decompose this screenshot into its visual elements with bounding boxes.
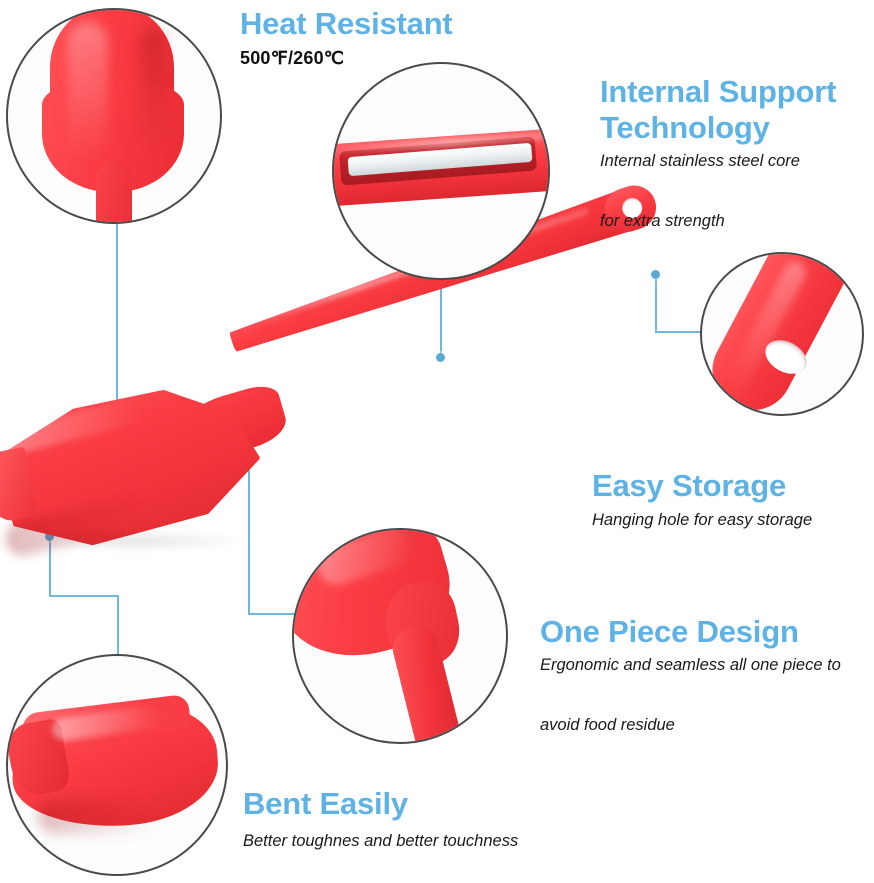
connector-line-bent-easily-v2 bbox=[117, 595, 119, 657]
feature-title-internal-support: Internal Support Technology bbox=[600, 74, 874, 146]
feature-subtitle-bent-easily: Better toughnes and better touchness bbox=[243, 826, 623, 856]
head-closeup-stem bbox=[96, 160, 132, 224]
feature-subtitle-one-piece: Ergonomic and seamless all one piece to … bbox=[540, 650, 874, 740]
feature-title-heat-resistant: Heat Resistant bbox=[240, 6, 540, 42]
connector-line-one-piece-horizontal bbox=[248, 613, 298, 615]
feature-temperature-heat-resistant: 500℉/260℃ bbox=[240, 48, 500, 69]
feature-title-easy-storage: Easy Storage bbox=[592, 468, 872, 504]
connector-line-bent-easily-h bbox=[49, 595, 119, 597]
feature-title-bent-easily: Bent Easily bbox=[243, 786, 543, 822]
hanging-hole-handle-tip bbox=[700, 252, 854, 416]
callout-steel-core bbox=[332, 62, 550, 280]
callout-one-piece bbox=[292, 528, 508, 744]
feature-subtitle-internal-support: Internal stainless steel core for extra … bbox=[600, 146, 870, 236]
callout-spatula-head bbox=[6, 8, 222, 224]
infographic-canvas: Heat Resistant 500℉/260℃ Internal Suppor… bbox=[0, 0, 874, 883]
feature-subtitle-easy-storage: Hanging hole for easy storage bbox=[592, 505, 872, 535]
callout-bent-head bbox=[6, 654, 228, 876]
feature-title-one-piece: One Piece Design bbox=[540, 614, 870, 650]
callout-hanging-hole bbox=[700, 252, 864, 416]
